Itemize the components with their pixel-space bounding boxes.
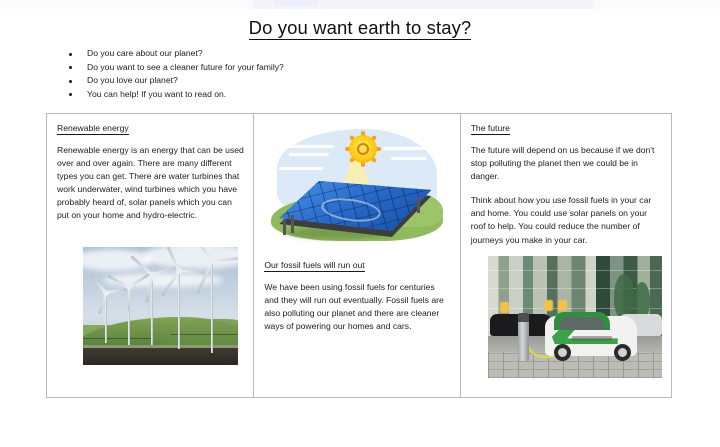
table-column-renewable-energy: Renewable energy Renewable energy is an …	[47, 114, 254, 397]
panel-leg	[291, 215, 294, 233]
paragraph: We have been using fossil fuels for cent…	[264, 281, 450, 333]
section-heading-fossil-fuels: Our fossil fuels will run out	[264, 260, 450, 270]
wind-turbine	[117, 287, 141, 345]
wind-turbine	[95, 293, 117, 343]
wind-turbine	[165, 271, 193, 349]
interior-lamp	[500, 302, 509, 313]
cell-text-block: Renewable energy Renewable energy is an …	[57, 123, 244, 223]
cell-text-block: Our fossil fuels will run out We have be…	[264, 260, 450, 333]
document-page: Do you want earth to stay? Do you care a…	[0, 9, 720, 447]
turbine-mast	[211, 261, 214, 353]
car-wheel	[614, 344, 631, 361]
interior-lamp	[544, 300, 553, 311]
cloud-line	[391, 157, 427, 160]
list-item: Do you love our planet?	[64, 74, 624, 88]
plant	[614, 274, 634, 318]
list-item: Do you care about our planet?	[64, 47, 624, 61]
table-column-fossil-fuels: Our fossil fuels will run out We have be…	[254, 114, 460, 397]
interior-lamp	[558, 300, 567, 311]
solar-panel	[279, 181, 431, 239]
wind-turbines-photo	[83, 247, 238, 365]
wind-turbine	[195, 261, 229, 353]
paragraph: Renewable energy is an energy that can b…	[57, 144, 244, 223]
electric-car-window	[560, 317, 604, 330]
cloud-line	[289, 153, 329, 156]
section-heading-the-future: The future	[471, 123, 662, 133]
paragraph: The future will depend on us because if …	[471, 144, 662, 183]
panel-leg	[283, 219, 286, 235]
list-item: You can help! If you want to read on.	[64, 88, 624, 102]
intro-bullet-list: Do you care about our planet? Do you wan…	[64, 47, 624, 101]
turbine-mast	[105, 293, 108, 343]
car-wheel	[554, 344, 571, 361]
cloud-line	[383, 147, 431, 150]
cloud-line	[281, 145, 333, 148]
viewer-top-strip	[0, 0, 720, 9]
turbine-blade	[128, 287, 131, 311]
solar-panel-clipart	[271, 119, 443, 247]
electric-car-charging-photo	[488, 256, 662, 378]
table-column-the-future: The future The future will depend on us …	[461, 114, 671, 397]
viewer-strip-tab	[275, 0, 317, 7]
cell-text-block: The future The future will depend on us …	[471, 123, 662, 247]
content-table: Renewable energy Renewable energy is an …	[46, 113, 672, 398]
wind-turbine	[139, 275, 165, 345]
sun-core	[357, 143, 369, 155]
page-title-text: Do you want earth to stay?	[249, 17, 472, 40]
section-heading-renewable-energy: Renewable energy	[57, 123, 244, 133]
turbine-mast	[178, 271, 181, 349]
electric-car-decal	[572, 336, 612, 341]
cloud-line	[279, 167, 323, 170]
charging-station-head	[518, 313, 529, 322]
paragraph: Think about how you use fossil fuels in …	[471, 194, 662, 246]
glass-mullion	[488, 270, 662, 271]
page-title: Do you want earth to stay?	[0, 17, 720, 39]
panel-leg	[417, 197, 420, 213]
list-item: Do you want to see a cleaner future for …	[64, 61, 624, 75]
plant	[634, 282, 650, 318]
